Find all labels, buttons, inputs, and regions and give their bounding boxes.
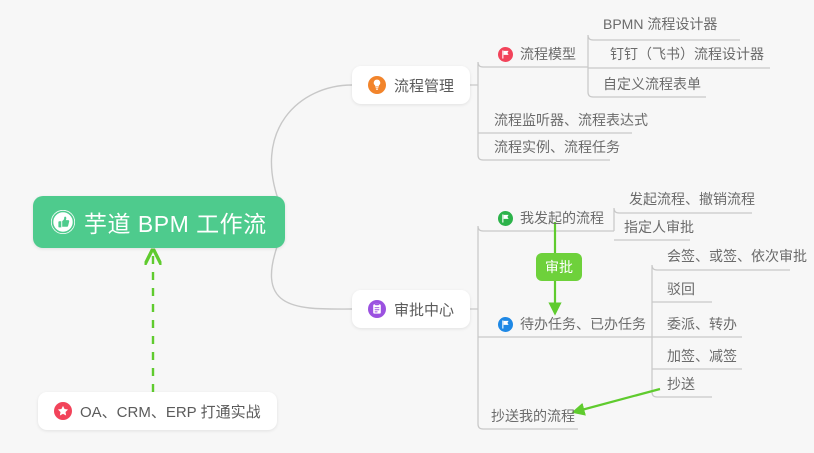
node-multi-sign[interactable]: 会签、或签、依次审批 (663, 243, 811, 269)
root-node[interactable]: 芋道 BPM 工作流 (33, 196, 285, 248)
annotation-approval-tag-label: 审批 (545, 257, 573, 277)
node-listener-expression[interactable]: 流程监听器、流程表达式 (490, 107, 652, 133)
branch-approval-center-label: 审批中心 (394, 299, 454, 320)
node-listener-expression-label: 流程监听器、流程表达式 (494, 110, 648, 130)
node-delegate-transfer-label: 委派、转办 (667, 314, 737, 334)
node-cc-label: 抄送 (667, 374, 695, 394)
node-start-cancel[interactable]: 发起流程、撤销流程 (625, 186, 759, 212)
link-root-to-approval-center (271, 236, 352, 309)
spine-approval-center (478, 226, 483, 429)
thumbs-up-icon (51, 210, 75, 234)
mindmap-canvas: 芋道 BPM 工作流 流程管理 流程模型 BPMN 流程设计器 钉钉（飞书）流程 (0, 0, 814, 453)
node-custom-form[interactable]: 自定义流程表单 (599, 71, 705, 97)
branch-process-management-label: 流程管理 (394, 75, 454, 96)
arrow-cc-to-ccflow (574, 389, 660, 412)
node-my-initiated-label: 我发起的流程 (520, 208, 604, 228)
node-add-remove-sign[interactable]: 加签、减签 (663, 343, 741, 369)
node-assignee-approval[interactable]: 指定人审批 (620, 214, 698, 240)
node-todo-done-label: 待办任务、已办任务 (520, 314, 646, 334)
node-assignee-approval-label: 指定人审批 (624, 217, 694, 237)
node-reject-label: 驳回 (667, 279, 695, 299)
flag-blue-icon (498, 317, 513, 332)
footnote-label: OA、CRM、ERP 打通实战 (80, 401, 261, 422)
spine-my-initiated (614, 208, 619, 231)
node-cc-to-me[interactable]: 抄送我的流程 (487, 403, 579, 429)
branch-process-management[interactable]: 流程管理 (352, 66, 470, 104)
node-start-cancel-label: 发起流程、撤销流程 (629, 189, 755, 209)
node-custom-form-label: 自定义流程表单 (603, 74, 701, 94)
node-delegate-transfer[interactable]: 委派、转办 (663, 311, 741, 337)
node-cc[interactable]: 抄送 (663, 371, 699, 397)
flag-green-icon (498, 211, 513, 226)
node-process-model[interactable]: 流程模型 (494, 41, 580, 67)
spine-process-management (478, 62, 483, 160)
node-instance-task[interactable]: 流程实例、流程任务 (490, 134, 624, 160)
root-label: 芋道 BPM 工作流 (84, 205, 267, 239)
node-bpmn-designer[interactable]: BPMN 流程设计器 (599, 11, 721, 37)
branch-approval-center[interactable]: 审批中心 (352, 290, 470, 328)
spine-todo-done (652, 265, 657, 397)
node-reject[interactable]: 驳回 (663, 276, 699, 302)
lightbulb-icon (368, 76, 386, 94)
node-multi-sign-label: 会签、或签、依次审批 (667, 246, 807, 266)
link-root-to-process-management (271, 85, 352, 207)
star-icon (54, 402, 72, 420)
flag-red-icon (498, 47, 513, 62)
node-cc-to-me-label: 抄送我的流程 (491, 406, 575, 426)
node-my-initiated[interactable]: 我发起的流程 (494, 205, 608, 231)
node-bpmn-designer-label: BPMN 流程设计器 (603, 14, 717, 34)
footnote-node[interactable]: OA、CRM、ERP 打通实战 (38, 392, 277, 430)
node-process-model-label: 流程模型 (520, 44, 576, 64)
node-todo-done[interactable]: 待办任务、已办任务 (494, 311, 650, 337)
annotation-approval-tag[interactable]: 审批 (536, 253, 582, 281)
node-instance-task-label: 流程实例、流程任务 (494, 137, 620, 157)
node-dingtalk-designer[interactable]: 钉钉（飞书）流程设计器 (606, 41, 768, 67)
node-add-remove-sign-label: 加签、减签 (667, 346, 737, 366)
node-dingtalk-designer-label: 钉钉（飞书）流程设计器 (610, 44, 764, 64)
spine-process-model (588, 35, 593, 97)
clipboard-icon (368, 300, 386, 318)
